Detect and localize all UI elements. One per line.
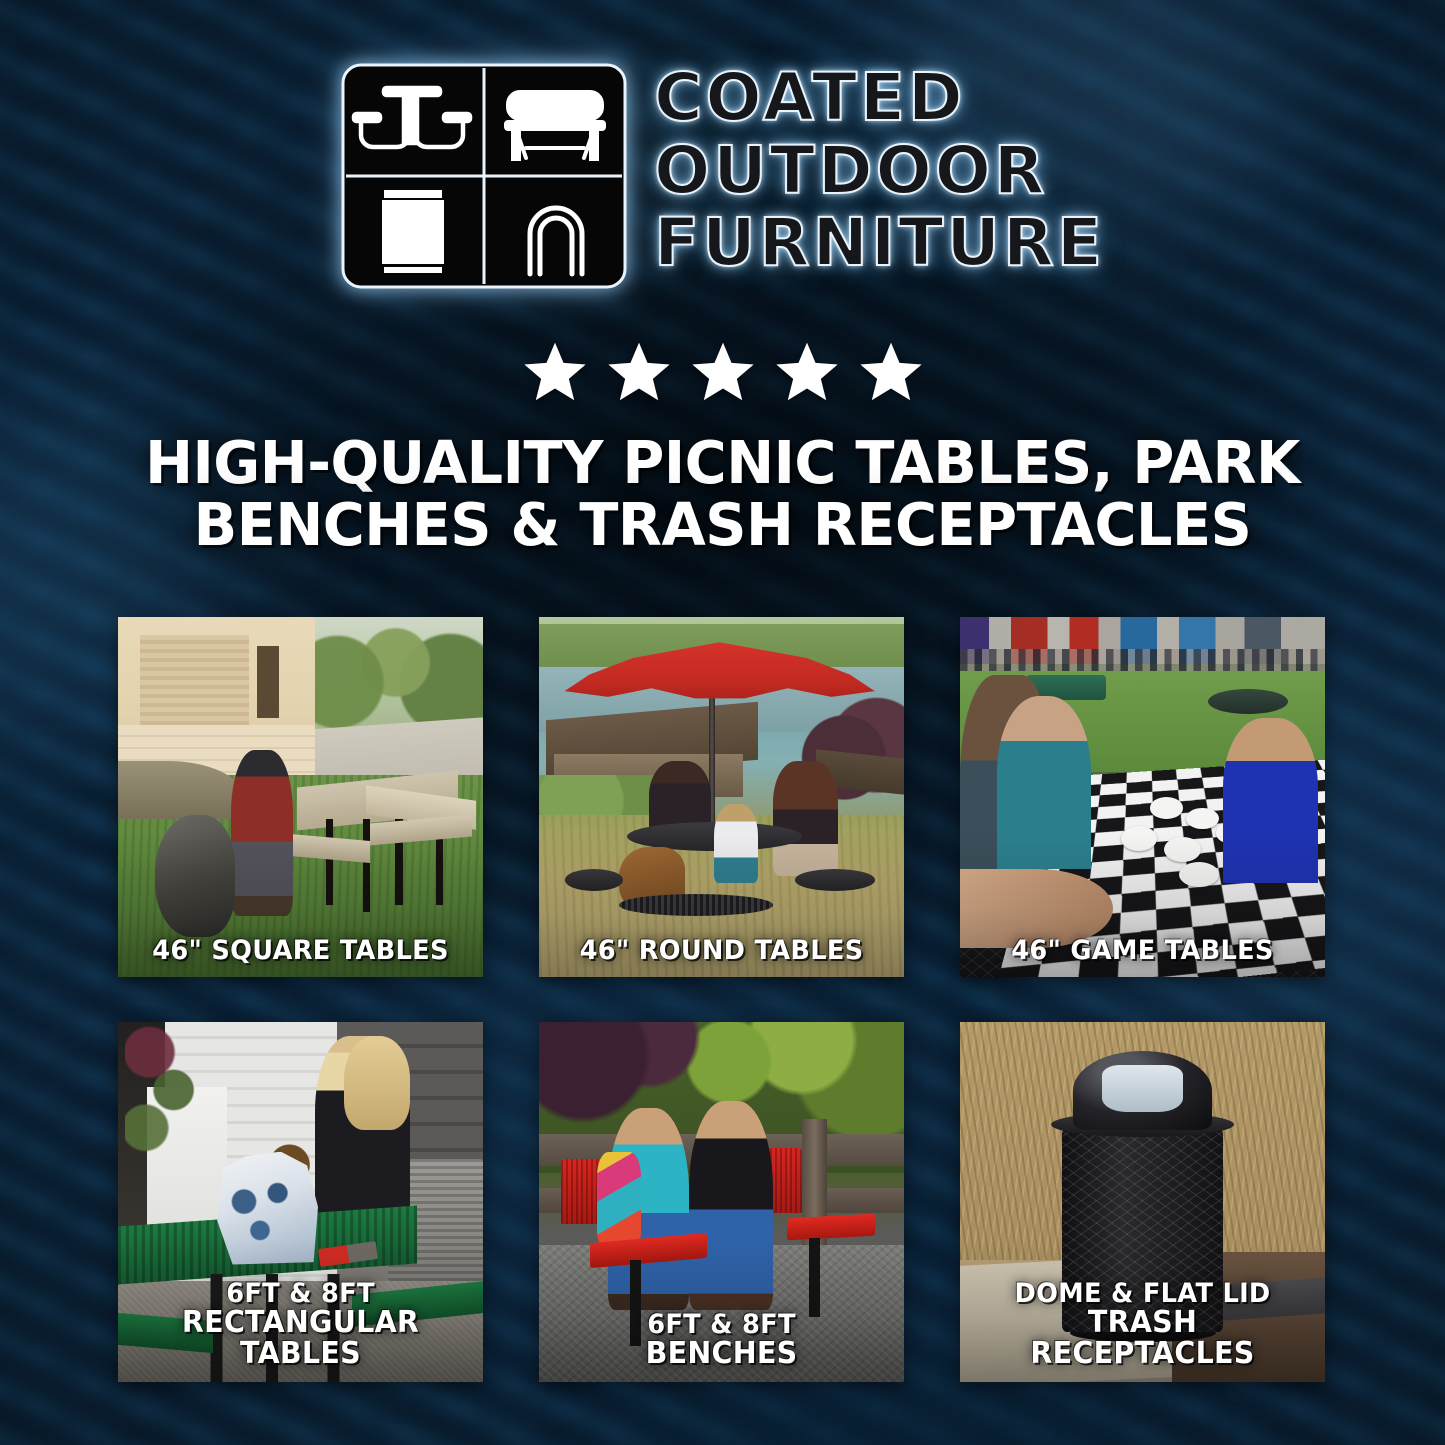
star-icon	[774, 340, 840, 404]
brand-logo[interactable]: COATED OUTDOOR FURNITURE	[0, 62, 1445, 290]
product-gallery: 46" SQUARE TABLES 46" RO	[118, 617, 1330, 1382]
page-title: HIGH-QUALITY PICNIC TABLES, PARK BENCHES…	[0, 432, 1445, 556]
caption-line-1: 46" GAME TABLES	[1011, 935, 1273, 966]
promo-banner: COATED OUTDOOR FURNITURE HIGH-QUALITY PI…	[0, 0, 1445, 1445]
photo-game-tables	[960, 617, 1325, 977]
brand-line-3: FURNITURE	[654, 211, 1105, 276]
gallery-item-rectangular-tables[interactable]: 6FT & 8FT RECTANGULAR TABLES	[118, 1022, 483, 1382]
caption-line-2: TRASH RECEPTACLES	[975, 1308, 1310, 1370]
star-rating	[0, 340, 1445, 404]
gallery-caption: 46" SQUARE TABLES	[127, 937, 474, 965]
gallery-item-trash-receptacles[interactable]: DOME & FLAT LID TRASH RECEPTACLES	[960, 1022, 1325, 1382]
brand-line-1: COATED	[654, 66, 1105, 131]
caption-line-1: 46" ROUND TABLES	[580, 935, 864, 966]
photo-round-tables	[539, 617, 904, 977]
gallery-item-game-tables[interactable]: 46" GAME TABLES	[960, 617, 1325, 977]
brand-wordmark: COATED OUTDOOR FURNITURE	[654, 62, 1105, 276]
star-icon	[858, 340, 924, 404]
gallery-caption: 46" ROUND TABLES	[548, 937, 895, 965]
star-icon	[606, 340, 672, 404]
headline-line-2: BENCHES & TRASH RECEPTACLES	[90, 494, 1356, 556]
star-icon	[522, 340, 588, 404]
gallery-item-benches[interactable]: 6FT & 8FT BENCHES	[539, 1022, 904, 1382]
four-quadrant-outdoor-furniture-icon	[340, 62, 628, 290]
gallery-caption: DOME & FLAT LID TRASH RECEPTACLES	[969, 1280, 1316, 1370]
star-icon	[690, 340, 756, 404]
gallery-item-round-tables[interactable]: 46" ROUND TABLES	[539, 617, 904, 977]
gallery-caption: 46" GAME TABLES	[969, 937, 1316, 965]
headline-line-1: HIGH-QUALITY PICNIC TABLES, PARK	[90, 432, 1356, 494]
photo-square-tables	[118, 617, 483, 977]
gallery-caption: 6FT & 8FT BENCHES	[548, 1311, 895, 1370]
caption-line-1: 46" SQUARE TABLES	[152, 935, 448, 966]
caption-line-2: RECTANGULAR TABLES	[133, 1308, 468, 1370]
gallery-item-square-tables[interactable]: 46" SQUARE TABLES	[118, 617, 483, 977]
gallery-caption: 6FT & 8FT RECTANGULAR TABLES	[127, 1280, 474, 1370]
caption-line-2: BENCHES	[554, 1339, 889, 1370]
brand-line-2: OUTDOOR	[654, 139, 1105, 204]
